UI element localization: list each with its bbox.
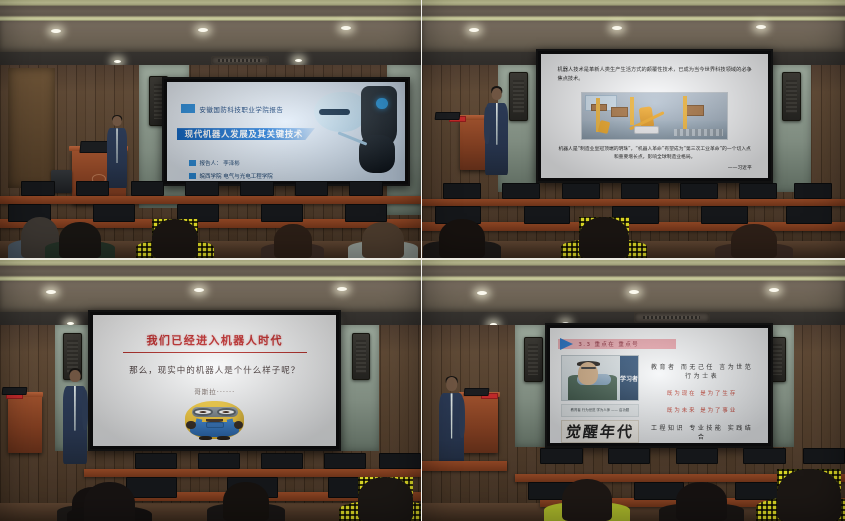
portrait-band-text: 学习者 — [620, 374, 638, 383]
laptop-icon — [2, 387, 28, 395]
minion-hand — [234, 421, 243, 429]
portrait-head — [578, 362, 598, 384]
accent-chip — [181, 104, 195, 113]
ceiling-soffit — [422, 281, 845, 312]
audience-member — [223, 482, 269, 521]
minion-body — [185, 401, 244, 439]
seatback — [502, 183, 540, 198]
slide-line-dark-bottom: 工程知识 专业技能 实践结合 — [647, 423, 757, 441]
laptop-icon — [434, 112, 460, 120]
audience-head — [223, 482, 269, 521]
presenter — [107, 116, 126, 188]
minion-pocket — [206, 422, 224, 428]
minion-eye-right — [217, 408, 236, 416]
robot-visor — [319, 109, 350, 115]
seatback — [621, 183, 659, 198]
calligraphy-text: 觉醒年代 — [564, 421, 635, 442]
audience-head — [439, 219, 486, 258]
meta-speaker: 报告人： 李泽彬 — [200, 159, 240, 167]
ac-vent-icon — [634, 312, 710, 323]
slide-section-bar: 3.3 重点在 重点号 — [558, 339, 676, 349]
portrait-glasses-icon — [581, 367, 596, 369]
meta-affiliation: 皖西学院 电气与光电工程学院 — [200, 172, 273, 180]
seatback — [93, 204, 135, 222]
ceiling-soffit — [0, 281, 421, 312]
seatback — [135, 453, 177, 469]
seatback — [261, 204, 303, 222]
podium — [460, 396, 498, 453]
collage-panel-bottom-right: 3.3 重点在 重点号 学习者 — [422, 260, 845, 521]
presenter — [63, 370, 87, 464]
slide-paragraph: 机器人技术是革新人类生产生活方式的颠覆性技术，已成为当今世界科技领域的必争焦点技… — [558, 66, 752, 84]
audience-member — [731, 224, 778, 258]
robot-base — [634, 126, 659, 134]
audience-head — [676, 482, 727, 521]
accent-chip — [189, 160, 196, 166]
audience-head — [731, 224, 778, 258]
audience-member — [562, 479, 613, 521]
collage-panel-top-right: 机器人技术是革新人类生产生活方式的颠覆性技术，已成为当今世界科技领域的必争焦点技… — [422, 0, 845, 260]
speaker-icon — [524, 337, 543, 382]
downlight-icon — [198, 28, 208, 32]
minion-foot — [217, 436, 230, 441]
seatback — [739, 183, 777, 198]
ceiling — [0, 0, 421, 70]
presenter-head — [70, 370, 81, 382]
downlight-icon — [477, 291, 487, 295]
factory-column — [630, 97, 634, 125]
calligraphy-box: 觉醒年代 — [561, 420, 640, 443]
seatback — [349, 181, 383, 196]
seatback — [701, 206, 748, 224]
speaker-icon — [509, 72, 528, 120]
minion-strap — [227, 418, 234, 423]
seatback — [786, 206, 833, 224]
audience-member-checkered — [152, 219, 198, 258]
audience-head — [84, 482, 135, 521]
desk-row — [84, 469, 421, 477]
speaker-icon — [782, 72, 801, 120]
minion-pupil — [223, 411, 230, 413]
slide-section-label: 3.3 重点在 重点号 — [578, 340, 639, 348]
presenter-arm — [484, 107, 489, 144]
minion-foot — [199, 436, 212, 441]
presenter-head — [113, 116, 122, 126]
downlight-icon — [337, 287, 347, 291]
presenter-arm — [82, 390, 88, 429]
seatback — [240, 181, 274, 196]
downlight-icon — [114, 60, 121, 63]
audience-head — [562, 479, 613, 521]
slide-body: 学习者 教育者 行为世范 学为人师 —— 启功题 觉醒年代 教育者 而无己任 言… — [550, 349, 768, 443]
presenter-arm — [459, 398, 465, 437]
seatback — [680, 183, 718, 198]
slide-title: 安徽国防科技职业学院报告 现代机器人发展及其关键技术 报告人： 李泽彬 皖西学院… — [167, 82, 405, 180]
slide-closing: 3.3 重点在 重点号 学习者 — [550, 328, 768, 443]
factory-crate — [611, 107, 628, 117]
minion-goggles — [192, 407, 238, 417]
slide-left-column: 学习者 教育者 行为世范 学为人师 —— 启功题 觉醒年代 — [561, 355, 640, 442]
desk-row — [422, 199, 845, 207]
seatback — [76, 181, 110, 196]
seatback — [803, 448, 845, 464]
slide-heading: 我们已经进入机器人时代 — [147, 332, 283, 348]
robot-illustration-icon — [310, 84, 401, 178]
audience-member — [59, 222, 101, 258]
projection-screen: 安徽国防科技职业学院报告 现代机器人发展及其关键技术 报告人： 李泽彬 皖西学院… — [162, 77, 410, 185]
seatback — [185, 181, 219, 196]
slide-title-band: 现代机器人发展及其关键技术 — [177, 128, 315, 140]
portrait-photo: 学习者 — [561, 355, 640, 400]
factory-column — [683, 96, 687, 129]
audience-member — [439, 219, 486, 258]
slide-question: 那么，现实中的机器人是个什么样子呢？ — [129, 364, 300, 376]
podium — [8, 396, 42, 453]
audience-member — [362, 222, 404, 258]
audience-head — [358, 477, 413, 521]
seatback — [562, 183, 600, 198]
slide-attribution: ——习近平 — [558, 164, 752, 171]
slide-robot-intro: 机器人技术是革新人类生产生活方式的颠覆性技术，已成为当今世界科技领域的必争焦点技… — [541, 54, 768, 178]
minion-eye-left — [193, 408, 212, 416]
photo-collage: 安徽国防科技职业学院报告 现代机器人发展及其关键技术 报告人： 李泽彬 皖西学院… — [0, 0, 845, 521]
presenter-head — [492, 88, 503, 100]
presenter — [439, 377, 464, 471]
audience-member-checkered — [358, 477, 413, 521]
seatback — [608, 448, 650, 464]
downlight-icon — [295, 59, 302, 62]
accent-chip — [189, 173, 196, 179]
audience-member — [274, 224, 312, 258]
downlight-icon — [46, 290, 56, 294]
collage-panel-bottom-left: 我们已经进入机器人时代 那么，现实中的机器人是个什么样子呢？ 哥斯拉······ — [0, 260, 422, 521]
seatback — [324, 453, 366, 469]
slide-right-column: 教育者 而无己任 言为世范 行为士表 既为现在 是为了生存 既为未来 是为了事业… — [647, 355, 757, 442]
audience-member-checkered — [579, 217, 630, 258]
audience-head — [59, 222, 101, 258]
downlight-icon — [469, 28, 479, 32]
slide-subtext: 哥斯拉······ — [194, 386, 235, 396]
audience-head — [362, 222, 404, 258]
slide-title-text: 现代机器人发展及其关键技术 — [185, 128, 303, 140]
seatback — [21, 181, 55, 196]
audience-member — [84, 482, 135, 521]
collage-panel-top-left: 安徽国防科技职业学院报告 现代机器人发展及其关键技术 报告人： 李泽彬 皖西学院… — [0, 0, 422, 260]
seatback — [743, 448, 785, 464]
slide-rule — [123, 352, 307, 353]
seatback — [794, 183, 832, 198]
audience-head — [274, 224, 312, 258]
projection-screen: 3.3 重点在 重点号 学习者 — [545, 323, 773, 448]
projection-screen: 机器人技术是革新人类生产生活方式的颠覆性技术，已成为当今世界科技领域的必争焦点技… — [536, 49, 773, 183]
portrait-title-band: 学习者 — [620, 356, 638, 399]
minion-pupil — [200, 411, 207, 413]
minion-strap — [195, 418, 202, 423]
minion-overalls — [190, 422, 240, 437]
conveyor-rail — [674, 129, 724, 136]
robot-workcell-photo — [581, 92, 729, 140]
seatback — [345, 204, 387, 222]
desk-row — [0, 196, 421, 204]
ceiling-soffit — [0, 21, 421, 52]
seatback — [261, 453, 303, 469]
minion-hand — [186, 421, 195, 429]
seatback — [198, 453, 240, 469]
audience-head — [152, 219, 198, 258]
audience-member-checkered — [777, 469, 840, 521]
slide-quote: 机器人是“制造业皇冠顶端的明珠”，“机器人革命”有望成为“第三次工业革命”的一个… — [558, 146, 752, 162]
minion-character-icon — [174, 398, 256, 445]
presenter-head — [446, 377, 458, 390]
presenter — [485, 88, 508, 176]
slide-robot-era: 我们已经进入机器人时代 那么，现实中的机器人是个什么样子呢？ 哥斯拉······ — [93, 315, 336, 446]
portrait-caption: 教育者 行为世范 学为人师 —— 启功题 — [561, 404, 640, 417]
audience-head — [579, 217, 630, 258]
projection-screen: 我们已经进入机器人时代 那么，现实中的机器人是个什么样子呢？ 哥斯拉······ — [88, 310, 341, 451]
slide-eyebrow: 安徽国防科技职业学院报告 — [199, 104, 283, 114]
front-table — [422, 461, 507, 471]
laptop-icon — [464, 388, 490, 396]
factory-crate — [685, 105, 704, 116]
ceiling — [422, 260, 845, 330]
seatback — [524, 206, 571, 224]
slide-line-dark: 教育者 而无己任 言为世范 行为士表 — [647, 362, 757, 380]
seatback — [540, 448, 582, 464]
wall-panel — [8, 68, 54, 188]
slide-line-red: 既为现在 是为了生存 — [647, 389, 757, 397]
downlight-icon — [629, 290, 639, 294]
seatback — [443, 183, 481, 198]
audience-member — [676, 482, 727, 521]
slide-line-red: 既为未来 是为了事业 — [647, 406, 757, 414]
ceiling-soffit — [422, 21, 845, 52]
audience-head — [777, 469, 840, 521]
seatback — [379, 453, 421, 469]
seatback — [131, 181, 165, 196]
seatback — [676, 448, 718, 464]
speaker-icon — [352, 333, 371, 380]
seatback — [295, 181, 329, 196]
